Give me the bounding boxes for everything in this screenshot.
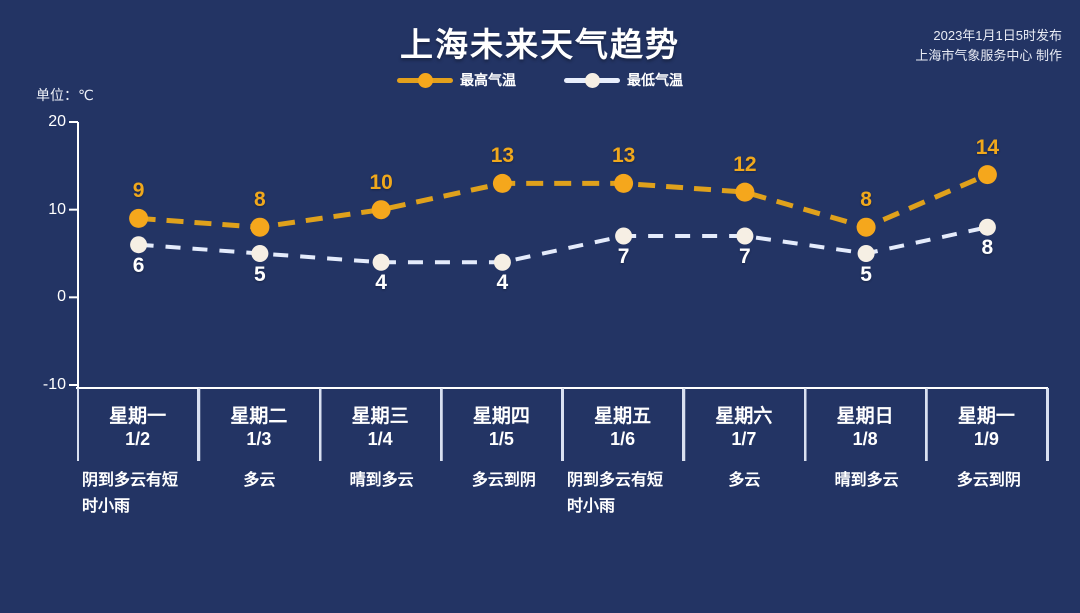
day-date: 1/6 (563, 429, 682, 450)
day-column-header[interactable]: 星期四1/5 (442, 389, 563, 461)
day-name: 星期四 (442, 401, 561, 428)
day-weather-description: 阴到多云有短时小雨 (563, 462, 681, 572)
day-date: 1/7 (684, 429, 803, 450)
day-name: 星期六 (684, 401, 803, 428)
day-weather-description: 晴到多云 (319, 462, 441, 572)
chart-series (129, 165, 997, 271)
day-column-header[interactable]: 星期三1/4 (321, 389, 442, 461)
y-tick-label: 20 (22, 113, 66, 131)
y-tick-label: 0 (22, 288, 66, 306)
low-temp-value-label: 7 (715, 245, 775, 269)
day-column-header[interactable]: 星期一1/2 (78, 389, 199, 461)
low-temp-value-label: 4 (351, 271, 411, 295)
day-weather-description: 多云到阴 (926, 462, 1048, 572)
day-column-header[interactable]: 星期日1/8 (806, 389, 927, 461)
day-name: 星期三 (321, 401, 440, 428)
low-temp-value-label: 8 (957, 236, 1017, 260)
high-temp-value-label: 8 (836, 188, 896, 212)
high-temp-value-label: 12 (715, 153, 775, 177)
high-temp-value-label: 13 (472, 144, 532, 168)
day-name: 星期日 (806, 401, 925, 428)
day-column-header[interactable]: 星期六1/7 (684, 389, 805, 461)
low-temp-value-label: 5 (230, 263, 290, 287)
day-weather-description: 多云到阴 (441, 462, 563, 572)
day-name: 星期二 (199, 401, 318, 428)
y-tick-label: -10 (22, 376, 66, 394)
day-date: 1/4 (321, 429, 440, 450)
day-date: 1/5 (442, 429, 561, 450)
low-temp-value-label: 6 (109, 254, 169, 278)
day-weather-description: 多云 (196, 462, 318, 572)
high-temp-value-label: 9 (109, 179, 169, 203)
day-date: 1/2 (78, 429, 197, 450)
day-column-header[interactable]: 星期二1/3 (199, 389, 320, 461)
day-date: 1/3 (199, 429, 318, 450)
high-temp-value-label: 8 (230, 188, 290, 212)
day-name: 星期一 (78, 401, 197, 428)
day-date: 1/8 (806, 429, 925, 450)
low-temp-value-label: 4 (472, 271, 532, 295)
day-weather-description: 阴到多云有短时小雨 (78, 462, 196, 572)
high-temp-value-label: 13 (594, 144, 654, 168)
day-date: 1/9 (927, 429, 1046, 450)
low-temp-value-label: 7 (594, 245, 654, 269)
day-name: 星期一 (927, 401, 1046, 428)
day-name: 星期五 (563, 401, 682, 428)
high-temp-value-label: 14 (957, 136, 1017, 160)
day-column-header[interactable]: 星期五1/6 (563, 389, 684, 461)
low-temp-value-label: 5 (836, 263, 896, 287)
day-weather-description: 晴到多云 (804, 462, 926, 572)
day-description-row: 阴到多云有短时小雨多云晴到多云多云到阴阴到多云有短时小雨多云晴到多云多云到阴 (78, 462, 1048, 572)
day-weather-description: 多云 (681, 462, 803, 572)
day-column-header[interactable]: 星期一1/9 (927, 389, 1048, 461)
high-temp-value-label: 10 (351, 171, 411, 195)
y-tick-label: 10 (22, 201, 66, 219)
